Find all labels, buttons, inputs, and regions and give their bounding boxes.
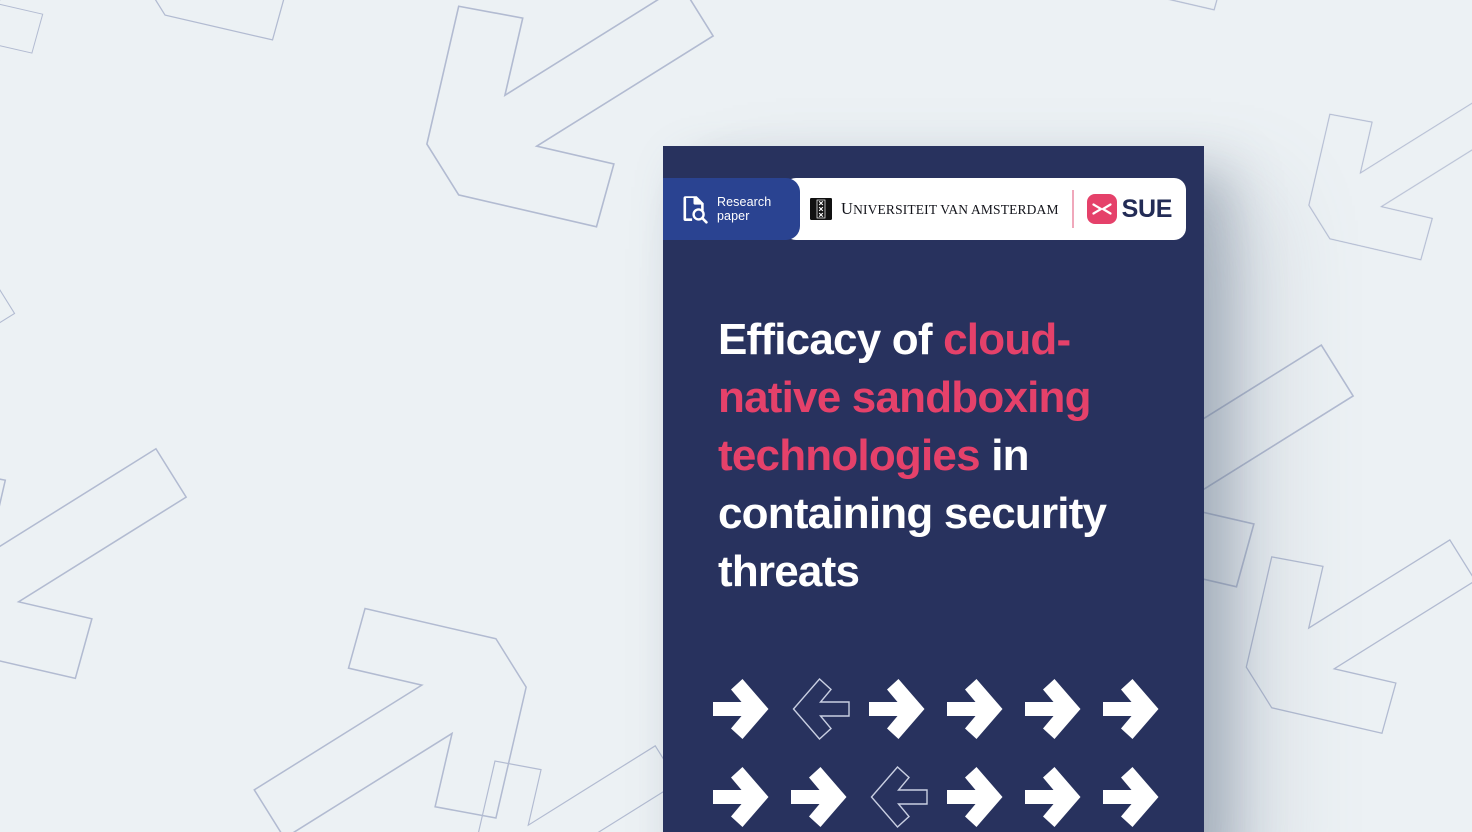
- arrow-right-icon: [785, 759, 855, 832]
- arrow-right-icon: [941, 671, 1011, 747]
- arrow-right-icon: [1097, 759, 1167, 832]
- arrow-right-icon: [707, 759, 777, 832]
- sue-logo: SUE: [1087, 194, 1173, 224]
- partner-logo-bar: UNIVERSITEIT VAN AMSTERDAM SUE: [784, 178, 1186, 240]
- arrow-right-icon: [863, 671, 933, 747]
- research-paper-badge: Research paper: [663, 178, 800, 240]
- arrow-right-icon: [707, 671, 777, 747]
- document-search-icon: [683, 195, 708, 224]
- arrow-row: [707, 753, 1177, 832]
- university-name: NIVERSITEIT VAN AMSTERDAM: [853, 202, 1059, 217]
- university-logo: UNIVERSITEIT VAN AMSTERDAM: [810, 198, 1059, 220]
- arrow-left-outline-icon: [863, 759, 933, 832]
- logo-divider: [1072, 190, 1074, 228]
- uva-coat-of-arms-icon: [810, 198, 832, 220]
- sue-wordmark: SUE: [1122, 195, 1173, 224]
- research-paper-badge-label: Research paper: [717, 195, 771, 224]
- cover-scene: Research paper: [0, 0, 1472, 832]
- university-logo-text: UNIVERSITEIT VAN AMSTERDAM: [841, 199, 1059, 219]
- arrow-left-outline-icon: [785, 671, 855, 747]
- arrow-right-icon: [1019, 759, 1089, 832]
- sue-arrows-icon: [1087, 194, 1117, 224]
- arrow-right-icon: [941, 759, 1011, 832]
- university-name-initial: U: [841, 199, 853, 218]
- arrow-row: [707, 665, 1177, 753]
- cover-header-strip: Research paper: [663, 178, 1124, 240]
- cover-arrow-grid: [707, 665, 1177, 832]
- cover-title-part-1: Efficacy of: [718, 315, 943, 364]
- research-paper-cover-card: Research paper: [663, 146, 1204, 832]
- cover-title: Efficacy of cloud-native sandboxing tech…: [718, 311, 1148, 601]
- arrow-right-icon: [1019, 671, 1089, 747]
- arrow-right-icon: [1097, 671, 1167, 747]
